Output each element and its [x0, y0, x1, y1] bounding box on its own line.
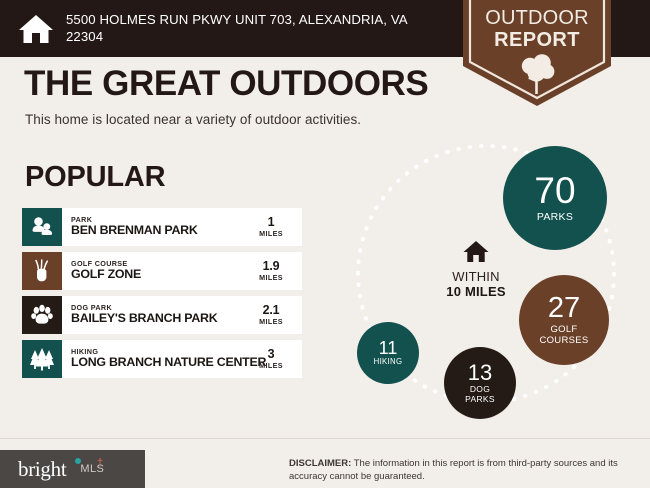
popular-list: PARK BEN BRENMAN PARK 1 MILES [22, 208, 302, 384]
distance-unit: MILES [259, 361, 283, 370]
list-item-text: HIKING LONG BRANCH NATURE CENTER [62, 340, 246, 378]
logo-name: bright [18, 457, 66, 481]
stat-label-line2: PARKS [465, 395, 495, 404]
popular-heading: POPULAR [25, 163, 165, 192]
distance-unit: MILES [259, 317, 283, 326]
home-icon [16, 9, 56, 49]
outdoor-report-page: 5500 HOLMES RUN PKWY UNIT 703, ALEXANDRI… [0, 0, 650, 488]
center-radius-marker: WITHIN 10 MILES [424, 240, 528, 299]
stat-label-line2: COURSES [539, 336, 588, 346]
list-item-distance: 2.1 MILES [246, 296, 302, 334]
brightmls-logo[interactable]: bright † MLS [0, 450, 145, 488]
disclaimer: DISCLAIMER: The information in this repo… [289, 458, 639, 484]
page-subtitle: This home is located near a variety of o… [25, 112, 361, 127]
distance-value: 1.9 [263, 260, 280, 274]
trees-icon [22, 340, 62, 378]
list-item-distance: 1 MILES [246, 208, 302, 246]
stat-bubble-dog-parks[interactable]: 13 DOG PARKS [444, 347, 516, 419]
golf-icon [22, 252, 62, 290]
property-address: 5500 HOLMES RUN PKWY UNIT 703, ALEXANDRI… [66, 12, 411, 46]
distance-value: 3 [268, 348, 275, 362]
list-item-name: BEN BRENMAN PARK [71, 224, 246, 238]
stat-bubble-parks[interactable]: 70 PARKS [503, 146, 607, 250]
stat-bubble-hiking[interactable]: 11 HIKING [357, 322, 419, 384]
radius-line1: WITHIN [424, 270, 528, 285]
distance-value: 1 [268, 216, 275, 230]
stat-count: 13 [468, 362, 492, 384]
paw-icon [22, 296, 62, 334]
radius-line2: 10 MILES [424, 285, 528, 300]
list-item-text: PARK BEN BRENMAN PARK [62, 208, 246, 246]
stat-bubble-golf-courses[interactable]: 27 GOLF COURSES [519, 275, 609, 365]
list-item-text: GOLF COURSE GOLF ZONE [62, 252, 246, 290]
list-item-name: BAILEY'S BRANCH PARK [71, 312, 246, 326]
list-item[interactable]: HIKING LONG BRANCH NATURE CENTER 3 MILES [22, 340, 302, 378]
distance-unit: MILES [259, 273, 283, 282]
stat-label: DOG PARKS [465, 385, 495, 404]
list-item-distance: 1.9 MILES [246, 252, 302, 290]
logo-trademark-icon: † [97, 457, 103, 469]
page-title: THE GREAT OUTDOORS [24, 66, 428, 101]
list-item[interactable]: GOLF COURSE GOLF ZONE 1.9 MILES [22, 252, 302, 290]
stat-label-line1: GOLF [539, 325, 588, 335]
distance-unit: MILES [259, 229, 283, 238]
stat-count: 70 [534, 172, 575, 209]
list-item-distance: 3 MILES [246, 340, 302, 378]
footer-divider [0, 438, 650, 439]
list-item-text: DOG PARK BAILEY'S BRANCH PARK [62, 296, 246, 334]
distance-value: 2.1 [263, 304, 280, 318]
park-people-icon [22, 208, 62, 246]
home-icon [424, 240, 528, 268]
logo-dot-icon [75, 458, 81, 464]
outdoor-report-badge: OUTDOOR REPORT [463, 0, 611, 106]
stat-count: 11 [379, 339, 398, 357]
list-item-name: GOLF ZONE [71, 268, 246, 282]
stat-label: HIKING [374, 358, 403, 367]
stat-count: 27 [548, 294, 580, 323]
logo-wordmark: bright † [18, 457, 66, 482]
list-item[interactable]: DOG PARK BAILEY'S BRANCH PARK 2.1 MILES [22, 296, 302, 334]
stat-label: GOLF COURSES [539, 325, 588, 346]
list-item-name: LONG BRANCH NATURE CENTER [71, 356, 246, 370]
stat-label: PARKS [537, 212, 573, 224]
list-item[interactable]: PARK BEN BRENMAN PARK 1 MILES [22, 208, 302, 246]
disclaimer-label: DISCLAIMER: [289, 458, 351, 469]
